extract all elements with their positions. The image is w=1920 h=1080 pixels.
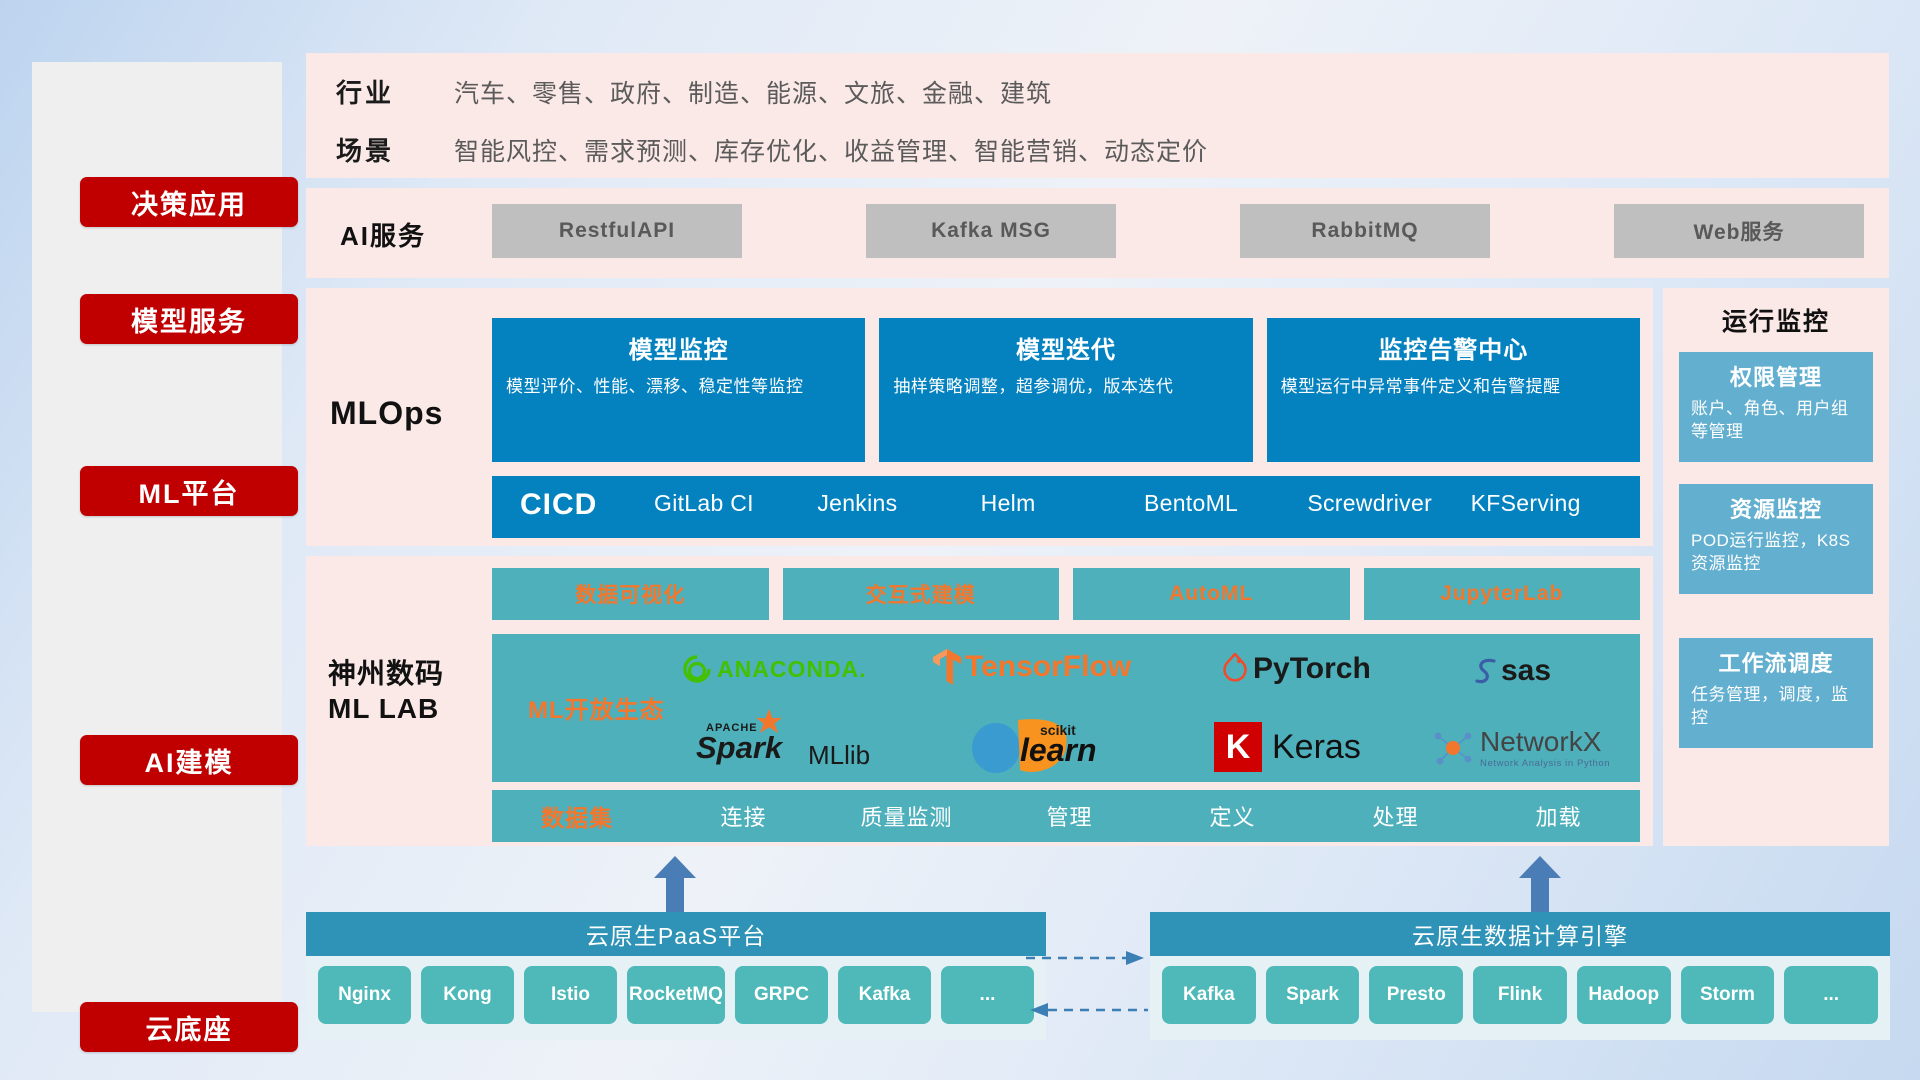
ecosystem-logo-grid: ANACONDA. TensorFlow PyTorch [682, 638, 1632, 778]
ai-service-band: AI服务 RestfulAPI Kafka MSG RabbitMQ Web服务 [306, 188, 1889, 278]
cloud-chip-spark[interactable]: Spark [1266, 966, 1360, 1024]
cloud-paas-chip-group: Nginx Kong Istio RocketMQ GRPC Kafka ... [306, 956, 1046, 1034]
dataset-item-define[interactable]: 定义 [1151, 800, 1314, 832]
networkx-icon [1432, 727, 1474, 769]
logo-text: learn [1020, 732, 1096, 769]
logo-text: Spark [696, 730, 782, 766]
dataset-item-quality[interactable]: 质量监测 [825, 800, 988, 832]
card-desc: 账户、角色、用户组等管理 [1691, 398, 1861, 444]
logo-pytorch[interactable]: PyTorch [1222, 652, 1371, 686]
cloud-chip-kafka[interactable]: Kafka [838, 966, 931, 1024]
logo-scikit-learn[interactable]: scikit learn [962, 718, 1152, 774]
card-title: 模型监控 [506, 330, 851, 365]
card-desc: POD运行监控，K8S资源监控 [1691, 530, 1861, 576]
monitoring-title: 运行监控 [1663, 302, 1889, 338]
anaconda-icon [682, 654, 712, 684]
card-title: 模型迭代 [893, 330, 1238, 365]
card-desc: 模型运行中异常事件定义和告警提醒 [1281, 375, 1626, 399]
service-button-label: RestfulAPI [559, 219, 675, 243]
service-button-rabbitmq[interactable]: RabbitMQ [1240, 204, 1490, 258]
dataset-item-connect[interactable]: 连接 [662, 800, 825, 832]
keras-icon: K [1214, 722, 1262, 772]
logo-networkx[interactable]: NetworkX Network Analysis in Python [1432, 726, 1610, 769]
logo-text: TensorFlow [965, 650, 1131, 684]
scene-row: 场景 智能风控、需求预测、库存优化、收益管理、智能营销、动态定价 [336, 131, 1208, 168]
tool-chip-jupyterlab[interactable]: JupyterLab [1364, 568, 1641, 620]
logo-anaconda[interactable]: ANACONDA. [682, 654, 867, 684]
applications-band: 行业 汽车、零售、政府、制造、能源、文旅、金融、建筑 场景 智能风控、需求预测、… [306, 53, 1889, 178]
sidebar-item-label: 模型服务 [131, 300, 247, 339]
layer-rail: 决策应用 模型服务 ML平台 AI建模 云底座 [32, 62, 282, 1012]
tool-chip-automl[interactable]: AutoML [1073, 568, 1350, 620]
pytorch-icon [1222, 653, 1248, 685]
sidebar-item-label: AI建模 [145, 741, 234, 780]
logo-tensorflow[interactable]: TensorFlow [932, 648, 1131, 686]
cicd-title: CICD [520, 488, 597, 522]
logo-extra-text: MLlib [808, 740, 870, 771]
sidebar-item-decision-app[interactable]: 决策应用 [80, 177, 298, 227]
cloud-chip-more[interactable]: ... [941, 966, 1034, 1024]
dataset-item-manage[interactable]: 管理 [988, 800, 1151, 832]
sas-icon [1472, 656, 1500, 686]
dashed-arrow-left-icon [1026, 1000, 1148, 1020]
tool-chip-data-visualization[interactable]: 数据可视化 [492, 568, 769, 620]
cloud-chip-flink[interactable]: Flink [1473, 966, 1567, 1024]
cicd-strip: CICD GitLab CI Jenkins Helm BentoML Scre… [492, 476, 1640, 538]
logo-keras[interactable]: K Keras [1214, 722, 1361, 772]
logo-text: PyTorch [1253, 652, 1371, 686]
dataset-label: 数据集 [492, 799, 662, 833]
logo-text: Keras [1272, 728, 1361, 767]
monitoring-card-workflow[interactable]: 工作流调度 任务管理，调度，监控 [1679, 638, 1873, 748]
logo-sas[interactable]: sas [1472, 654, 1551, 688]
cloud-data-engine-title: 云原生数据计算引擎 [1150, 912, 1890, 956]
tool-chip-interactive-modeling[interactable]: 交互式建模 [783, 568, 1060, 620]
cloud-chip-hadoop[interactable]: Hadoop [1577, 966, 1671, 1024]
mlops-card-model-iteration[interactable]: 模型迭代 抽样策略调整，超参调优，版本迭代 [879, 318, 1252, 462]
dataset-item-process[interactable]: 处理 [1314, 800, 1477, 832]
ml-ecosystem-strip: ML开放生态 ANACONDA. TensorFlow [492, 634, 1640, 782]
scene-value: 智能风控、需求预测、库存优化、收益管理、智能营销、动态定价 [454, 132, 1208, 168]
cicd-item-helm[interactable]: Helm [981, 490, 1144, 516]
cloud-data-engine-block: 云原生数据计算引擎 Kafka Spark Presto Flink Hadoo… [1150, 912, 1890, 1040]
ml-lab-label-line1: 神州数码 [328, 656, 444, 691]
tensorflow-icon [932, 648, 962, 686]
cicd-item-gitlab-ci[interactable]: GitLab CI [654, 490, 817, 516]
cicd-item-jenkins[interactable]: Jenkins [817, 490, 980, 516]
sidebar-item-ml-platform[interactable]: ML平台 [80, 466, 298, 516]
service-button-label: Web服务 [1694, 216, 1785, 246]
cicd-item-screwdriver[interactable]: Screwdriver [1307, 490, 1470, 516]
monitoring-card-resource[interactable]: 资源监控 POD运行监控，K8S资源监控 [1679, 484, 1873, 594]
industry-label: 行业 [336, 73, 454, 110]
service-button-kafka-msg[interactable]: Kafka MSG [866, 204, 1116, 258]
card-desc: 抽样策略调整，超参调优，版本迭代 [893, 375, 1238, 399]
cloud-chip-kafka[interactable]: Kafka [1162, 966, 1256, 1024]
cloud-paas-block: 云原生PaaS平台 Nginx Kong Istio RocketMQ GRPC… [306, 912, 1046, 1040]
cicd-item-group: GitLab CI Jenkins Helm BentoML Screwdriv… [654, 490, 1634, 516]
cloud-chip-presto[interactable]: Presto [1369, 966, 1463, 1024]
cloud-chip-more[interactable]: ... [1784, 966, 1878, 1024]
modeling-tool-group: 数据可视化 交互式建模 AutoML JupyterLab [492, 568, 1640, 620]
cloud-paas-title: 云原生PaaS平台 [306, 912, 1046, 956]
card-title: 资源监控 [1691, 492, 1861, 524]
dataset-strip: 数据集 连接 质量监测 管理 定义 处理 加载 [492, 790, 1640, 842]
logo-text: ANACONDA. [717, 656, 867, 683]
sidebar-item-model-service[interactable]: 模型服务 [80, 294, 298, 344]
dataset-item-load[interactable]: 加载 [1477, 800, 1640, 832]
sidebar-item-label: 云底座 [146, 1008, 233, 1047]
service-button-web[interactable]: Web服务 [1614, 204, 1864, 258]
cloud-chip-kong[interactable]: Kong [421, 966, 514, 1024]
service-button-label: Kafka MSG [931, 219, 1051, 243]
logo-text: NetworkX [1480, 726, 1610, 758]
cloud-chip-istio[interactable]: Istio [524, 966, 617, 1024]
industry-value: 汽车、零售、政府、制造、能源、文旅、金融、建筑 [454, 74, 1052, 110]
mlops-card-alert-center[interactable]: 监控告警中心 模型运行中异常事件定义和告警提醒 [1267, 318, 1640, 462]
card-title: 工作流调度 [1691, 646, 1861, 678]
arrow-up-left-icon [654, 856, 696, 914]
service-button-restfulapi[interactable]: RestfulAPI [492, 204, 742, 258]
logo-spark-mllib[interactable]: APACHE Spark MLlib [690, 720, 720, 750]
cloud-chip-rocketmq[interactable]: RocketMQ [627, 966, 725, 1024]
mlops-label: MLOps [330, 395, 443, 432]
ml-lab-label: 神州数码 ML LAB [328, 656, 444, 726]
card-desc: 任务管理，调度，监控 [1691, 684, 1861, 730]
mlops-card-group: 模型监控 模型评价、性能、漂移、稳定性等监控 模型迭代 抽样策略调整，超参调优，… [492, 318, 1640, 462]
ai-service-label: AI服务 [340, 216, 460, 253]
sidebar-item-cloud-base[interactable]: 云底座 [80, 1002, 298, 1052]
cicd-item-kfserving[interactable]: KFServing [1471, 490, 1634, 516]
ai-service-button-group: RestfulAPI Kafka MSG RabbitMQ Web服务 [492, 204, 1864, 258]
mlops-card-model-monitor[interactable]: 模型监控 模型评价、性能、漂移、稳定性等监控 [492, 318, 865, 462]
ml-lab-label-line2: ML LAB [328, 691, 444, 726]
industry-row: 行业 汽车、零售、政府、制造、能源、文旅、金融、建筑 [336, 73, 1052, 110]
card-title: 监控告警中心 [1281, 330, 1626, 365]
ml-ecosystem-label: ML开放生态 [528, 690, 665, 725]
cloud-chip-nginx[interactable]: Nginx [318, 966, 411, 1024]
scene-label: 场景 [336, 131, 454, 168]
cloud-data-engine-chip-group: Kafka Spark Presto Flink Hadoop Storm ..… [1150, 956, 1890, 1034]
cloud-chip-grpc[interactable]: GRPC [735, 966, 828, 1024]
cicd-item-bentoml[interactable]: BentoML [1144, 490, 1307, 516]
dashed-arrow-right-icon [1026, 948, 1148, 968]
logo-subtext: Network Analysis in Python [1480, 758, 1610, 769]
sidebar-item-ai-modeling[interactable]: AI建模 [80, 735, 298, 785]
card-desc: 模型评价、性能、漂移、稳定性等监控 [506, 375, 851, 399]
service-button-label: RabbitMQ [1311, 219, 1418, 243]
monitoring-band: 运行监控 权限管理 账户、角色、用户组等管理 资源监控 POD运行监控，K8S资… [1663, 288, 1889, 846]
cloud-chip-storm[interactable]: Storm [1681, 966, 1775, 1024]
logo-text: sas [1501, 654, 1551, 688]
diagram-canvas: 决策应用 模型服务 ML平台 AI建模 云底座 行业 汽车、零售、政府、制造、能… [0, 0, 1920, 1080]
sidebar-item-label: 决策应用 [131, 183, 247, 222]
sidebar-item-label: ML平台 [139, 472, 240, 511]
card-title: 权限管理 [1691, 360, 1861, 392]
monitoring-card-permission[interactable]: 权限管理 账户、角色、用户组等管理 [1679, 352, 1873, 462]
arrow-up-right-icon [1519, 856, 1561, 914]
